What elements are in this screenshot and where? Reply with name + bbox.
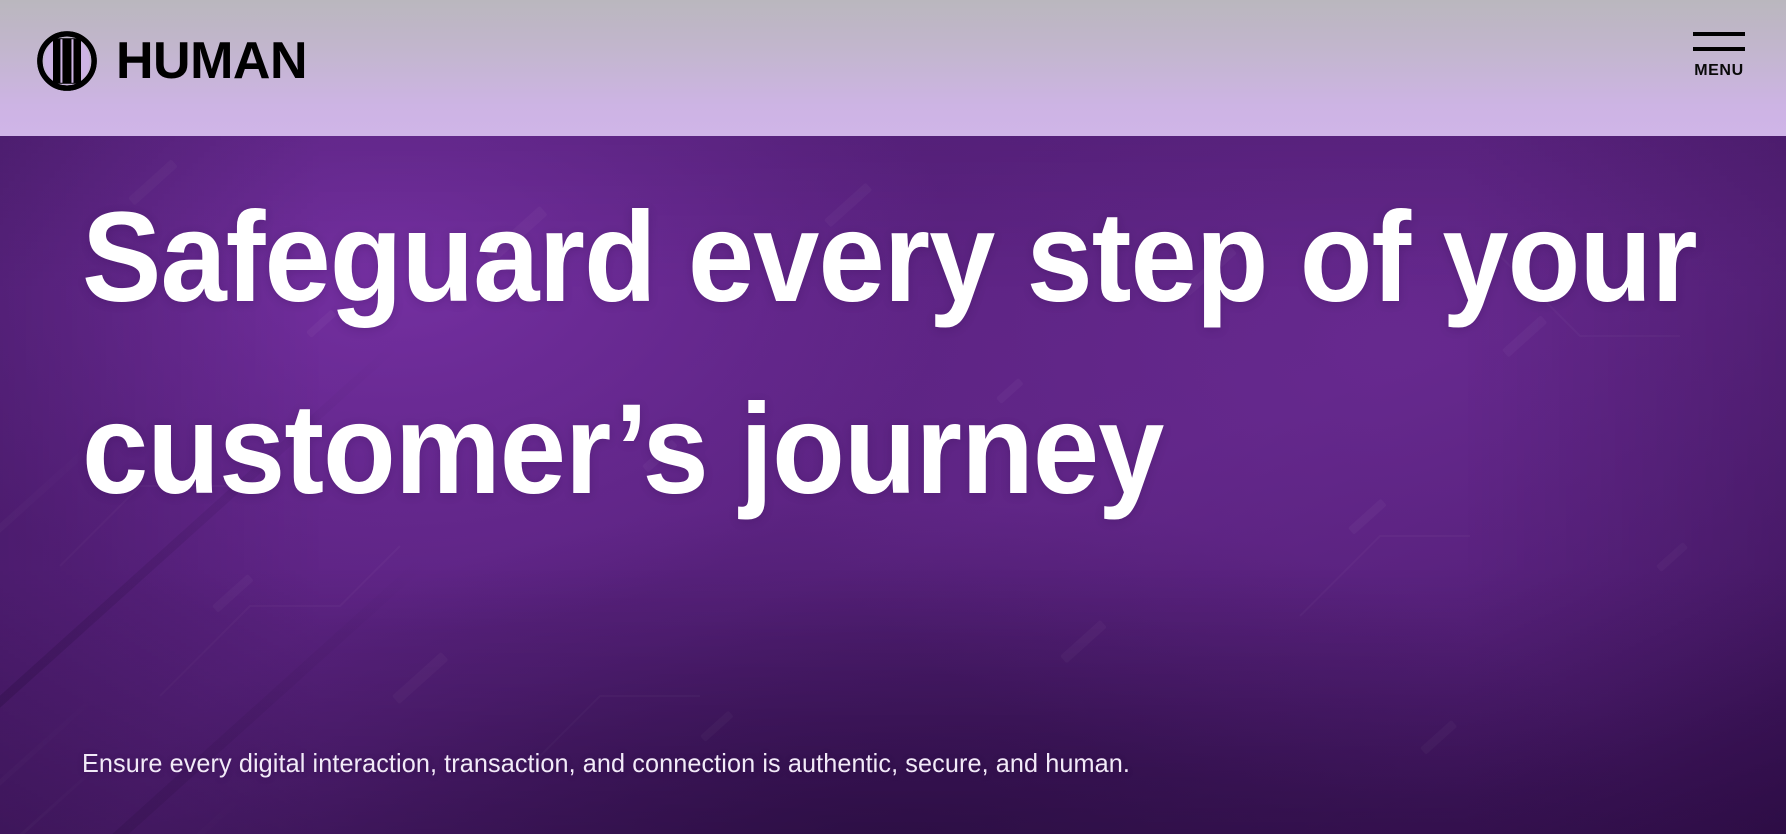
- hero-headline-line-2: customer’s journey: [82, 354, 1607, 546]
- hero-headline: Safeguard every step of your customer’s …: [82, 162, 1607, 546]
- hero-subtitle: Ensure every digital interaction, transa…: [82, 746, 1130, 780]
- site-header: HUMAN MENU: [0, 0, 1786, 136]
- menu-button-label: MENU: [1694, 63, 1744, 79]
- hamburger-menu-icon: [1693, 32, 1745, 51]
- brand-wordmark: HUMAN: [116, 35, 307, 87]
- hero-content: Safeguard every step of your customer’s …: [0, 136, 1786, 834]
- human-logo-mark-icon: [36, 30, 98, 92]
- hero-section: Safeguard every step of your customer’s …: [0, 136, 1786, 834]
- menu-button[interactable]: MENU: [1686, 32, 1752, 79]
- brand-logo-link[interactable]: HUMAN: [36, 30, 307, 92]
- hero-headline-line-1: Safeguard every step of your: [82, 162, 1607, 354]
